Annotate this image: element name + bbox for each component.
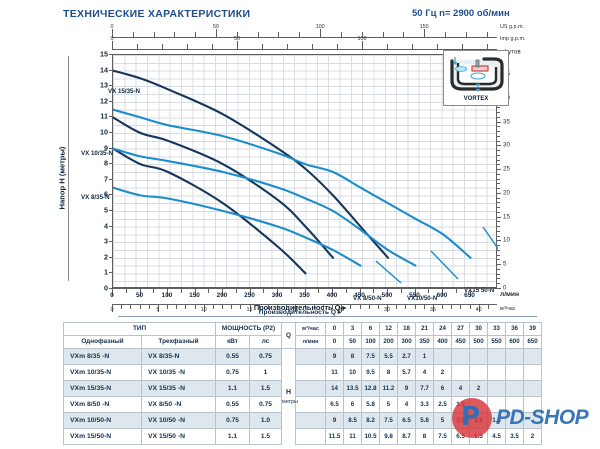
axis-tick-label: 100 xyxy=(358,36,367,42)
axis-tick-label: 0 xyxy=(110,292,114,299)
axis-tick xyxy=(412,44,413,49)
curves-svg xyxy=(113,55,498,289)
cell-type-three: VX 8/35-N xyxy=(142,349,216,365)
y-axis-right-minor-tick xyxy=(497,112,500,113)
cell-head-value: 4 xyxy=(398,397,416,413)
y-axis-tick-label: 14 xyxy=(92,65,108,74)
top-axis-imp-gpm: 050100 xyxy=(112,40,497,50)
table-top-rule xyxy=(118,316,537,317)
y-axis-right-minor-tick xyxy=(497,221,500,222)
cell-head-value xyxy=(506,397,524,413)
header-q-lmin: л/мин xyxy=(296,336,326,349)
cell-type-single: VXm 15/35-N xyxy=(64,381,142,397)
curve-leader-line xyxy=(376,261,401,283)
header-q-lmin-value: 100 xyxy=(362,336,380,349)
y-axis-right-minor-tick xyxy=(497,207,500,208)
axis-tick xyxy=(320,29,321,37)
cell-head-value: 8 xyxy=(380,365,398,381)
axis-tick xyxy=(424,305,425,309)
axis-tick xyxy=(181,289,182,293)
y-axis-right-tick xyxy=(497,217,501,218)
y-axis-right-minor-tick xyxy=(497,150,500,151)
cell-head-value: 9 xyxy=(326,413,344,429)
axis-tick xyxy=(445,32,446,37)
table-row: VXm 10/50-NVX 10/50 -N0.751.098.58.27.56… xyxy=(64,413,542,429)
axis-tick xyxy=(460,305,461,309)
header-power-hp: лс xyxy=(250,336,282,349)
header-q-lmin-value: 450 xyxy=(452,336,470,349)
header-q-m3h-value: 39 xyxy=(524,323,542,336)
y-axis-right-minor-tick xyxy=(497,136,500,137)
header-type-single: Однофазный xyxy=(64,336,142,349)
page-header: ТЕХНИЧЕСКИЕ ХАРАКТЕРИСТИКИ 50 Гц n= 2900… xyxy=(0,0,600,26)
header-q-m3h-value: 36 xyxy=(506,323,524,336)
y-axis-right-minor-tick xyxy=(497,131,500,132)
axis-tick xyxy=(185,305,186,309)
axis-tick xyxy=(337,44,338,49)
y-axis-right-minor-tick xyxy=(497,155,500,156)
header-q-m3h-value: 18 xyxy=(398,323,416,336)
axis-tick xyxy=(133,32,134,37)
axis-tick xyxy=(424,29,425,37)
table-flow-caption: Производительность Q ▸ xyxy=(259,308,341,316)
axis-tick xyxy=(487,44,488,49)
y-axis-tick-label: 13 xyxy=(92,81,108,90)
cell-head-value: 14 xyxy=(326,381,344,397)
axis-tick xyxy=(174,32,175,37)
y-axis-right-tick-label: 15 xyxy=(503,213,510,220)
cell-head-value xyxy=(506,413,524,429)
cell-power-kw: 0.55 xyxy=(216,397,250,413)
axis-tick xyxy=(187,44,188,49)
y-axis-left-title: Напор H (метры) xyxy=(58,147,67,210)
axis-tick xyxy=(318,289,319,293)
cell-spacer xyxy=(296,397,326,413)
curve-label: VX 15/35-N xyxy=(108,88,140,95)
curve-leader-line xyxy=(483,227,498,263)
cell-head-value: 13.5 xyxy=(344,381,362,397)
axis-tick xyxy=(396,305,397,309)
cell-power-hp: 0.75 xyxy=(250,397,282,413)
y-axis-tick-label: 5 xyxy=(92,206,108,215)
axis-tick xyxy=(258,32,259,37)
cell-spacer xyxy=(296,349,326,365)
cell-power-hp: 1.5 xyxy=(250,381,282,397)
cell-head-value: 9.5 xyxy=(362,365,380,381)
cell-head-value: 11 xyxy=(344,429,362,445)
axis-tick xyxy=(437,44,438,49)
cell-head-value: 4 xyxy=(452,381,470,397)
cell-h-unit: Hметры xyxy=(282,349,296,445)
y-axis-tick-label: 0 xyxy=(92,284,108,293)
frequency-label: 50 Гц n= 2900 об/мин xyxy=(412,8,510,19)
cell-head-value: 2 xyxy=(470,381,488,397)
cell-type-three: VX 15/50 -N xyxy=(142,429,216,445)
y-axis-right-minor-tick xyxy=(497,183,500,184)
axis-tick xyxy=(195,32,196,37)
header-q-m3h-value: 33 xyxy=(488,323,506,336)
cell-head-value: 8.2 xyxy=(362,413,380,429)
performance-chart: 050100150 US g.p.m. 050100 Imp g.p.m. На… xyxy=(0,26,600,320)
cell-type-single: VXm 10/50-N xyxy=(64,413,142,429)
cell-power-hp: 0.75 xyxy=(250,349,282,365)
axis-tick-label: 600 xyxy=(437,292,448,299)
table-header-row: ОднофазныйТрехфазныйкВтлсл/мин0501002003… xyxy=(64,336,542,349)
header-q-m3h: м³/час xyxy=(296,323,326,336)
axis-tick xyxy=(487,32,488,37)
y-axis-left-line xyxy=(68,56,69,281)
y-axis-right-minor-tick xyxy=(497,164,500,165)
y-axis-right-tick xyxy=(497,169,501,170)
curve-label: VX 8/35-N xyxy=(81,194,110,201)
curve-vx-8-35-n xyxy=(113,149,306,274)
y-axis-tick-label: 1 xyxy=(92,268,108,277)
y-axis-right-minor-tick xyxy=(497,126,500,127)
cell-type-three: VX 15/35 -N xyxy=(142,381,216,397)
axis-tick xyxy=(262,44,263,49)
vortex-pump-diagram-icon xyxy=(444,51,510,97)
y-axis-right-minor-tick xyxy=(497,269,500,270)
cell-head-value xyxy=(434,349,452,365)
axis-tick-label: 5 xyxy=(156,307,159,313)
cell-head-value xyxy=(524,365,542,381)
cell-type-single: VXm 10/35-N xyxy=(64,365,142,381)
axis-tick xyxy=(287,44,288,49)
cell-power-kw: 0.75 xyxy=(216,413,250,429)
cell-spacer xyxy=(296,365,326,381)
axis-tick xyxy=(208,289,209,293)
table-row: VXm 15/50-NVX 15/50 -N1.11.511.51110.59.… xyxy=(64,429,542,445)
y-axis-right-minor-tick xyxy=(497,188,500,189)
y-axis-right-tick xyxy=(497,145,501,146)
header-q-lmin-value: 350 xyxy=(416,336,434,349)
axis-tick xyxy=(362,41,363,49)
cell-power-kw: 0.75 xyxy=(216,365,250,381)
cell-type-three: VX 10/35 -N xyxy=(142,365,216,381)
axis-tick xyxy=(278,32,279,37)
header-q-lmin-value: 400 xyxy=(434,336,452,349)
axis-tick xyxy=(263,289,264,293)
axis-tick xyxy=(470,305,471,309)
axis-tick-label: 100 xyxy=(316,24,325,30)
y-axis-right-tick-label: 25 xyxy=(503,166,510,173)
axis-tick xyxy=(236,289,237,293)
cell-spacer xyxy=(296,381,326,397)
cell-head-value xyxy=(524,413,542,429)
cell-head-value: 6.5 xyxy=(452,429,470,445)
cell-spacer xyxy=(296,429,326,445)
axis-tick xyxy=(222,305,223,309)
page-title: ТЕХНИЧЕСКИЕ ХАРАКТЕРИСТИКИ xyxy=(63,8,250,20)
table-row: VXm 8/35 -NVX 8/35-N0.550.75Hметры987.55… xyxy=(64,349,542,365)
y-axis-right-tick-label: 35 xyxy=(503,118,510,125)
cell-head-value: 12.8 xyxy=(362,381,380,397)
cell-head-value: 4.5 xyxy=(488,429,506,445)
cell-head-value: 2.7 xyxy=(398,349,416,365)
cell-head-value: 5.7 xyxy=(398,365,416,381)
cell-head-value: 2.5 xyxy=(470,413,488,429)
y-axis-right-minor-tick xyxy=(497,226,500,227)
header-q-m3h-value: 24 xyxy=(434,323,452,336)
curve-vx10-50-n xyxy=(113,149,416,266)
cell-head-value: 10 xyxy=(344,365,362,381)
header-q-m3h-value: 6 xyxy=(362,323,380,336)
y-axis-right-tick xyxy=(497,122,501,123)
curve-vx-8-50-n xyxy=(113,188,361,266)
table-row: VXm 8/50 -NVX 8/50 -N0.550.756.565.8543.… xyxy=(64,397,542,413)
axis-tick-label: 0 xyxy=(111,307,114,313)
cell-head-value: 1.5 xyxy=(452,397,470,413)
y-axis-right-minor-tick xyxy=(497,274,500,275)
axis-tick xyxy=(154,32,155,37)
y-axis-tick-label: 4 xyxy=(92,221,108,230)
axis-tick xyxy=(312,44,313,49)
axis-tick xyxy=(350,305,351,309)
cell-type-three: VX 10/50 -N xyxy=(142,413,216,429)
y-axis-right-minor-tick xyxy=(497,236,500,237)
curve-vx15-50-n xyxy=(113,110,471,258)
y-axis-right-minor-tick xyxy=(497,202,500,203)
cell-type-single: VXm 15/50-N xyxy=(64,429,142,445)
y-axis-right-minor-tick xyxy=(497,107,500,108)
table-row: VXm 10/35-NVX 10/35 -N0.75111109.585.742 xyxy=(64,365,542,381)
cell-head-value: 8.7 xyxy=(398,429,416,445)
top-axis-us-unit: US g.p.m. xyxy=(500,24,524,30)
axis-tick-label: 500 xyxy=(382,292,393,299)
plot-area xyxy=(112,54,497,288)
x-axis-lmin: 050100150200250300350400450500550600650 xyxy=(112,288,497,300)
axis-tick xyxy=(360,305,361,309)
y-axis-right-tick xyxy=(497,288,501,289)
cell-head-value: 7.5 xyxy=(380,413,398,429)
y-axis-right-minor-tick xyxy=(497,141,500,142)
y-axis-right-tick-label: 30 xyxy=(503,142,510,149)
cell-head-value: 5 xyxy=(380,397,398,413)
cell-head-value: 3.8 xyxy=(452,413,470,429)
axis-tick xyxy=(383,32,384,37)
cell-head-value xyxy=(470,365,488,381)
cell-head-value: 8 xyxy=(344,349,362,365)
y-axis-right-minor-tick xyxy=(497,198,500,199)
cell-head-value: 7.7 xyxy=(416,381,434,397)
cell-head-value: 6.5 xyxy=(398,413,416,429)
y-axis-right-minor-tick xyxy=(497,255,500,256)
axis-tick xyxy=(378,305,379,309)
cell-head-value xyxy=(524,397,542,413)
axis-tick xyxy=(415,305,416,309)
y-axis-tick-label: 2 xyxy=(92,252,108,261)
specifications-table: ТИПМОЩНОСТЬ (P2)Qм³/час03612182124273033… xyxy=(63,322,537,445)
spec-table: ТИПМОЩНОСТЬ (P2)Qм³/час03612182124273033… xyxy=(63,322,542,445)
y-axis-right-tick-label: 10 xyxy=(503,237,510,244)
x-axis-lmin-unit: л/мин xyxy=(500,291,519,298)
axis-tick-label: 0 xyxy=(111,36,114,42)
axis-tick-label: 30 xyxy=(384,307,390,313)
axis-tick-label: 400 xyxy=(327,292,338,299)
cell-head-value: 2 xyxy=(434,365,452,381)
cell-head-value: 9 xyxy=(398,381,416,397)
cell-power-hp: 1.0 xyxy=(250,413,282,429)
vortex-badge: VORTEX xyxy=(443,50,509,106)
y-axis-right-minor-tick xyxy=(497,278,500,279)
axis-tick xyxy=(456,289,457,293)
axis-tick-label: 150 xyxy=(189,292,200,299)
cell-head-value: 6 xyxy=(434,381,452,397)
cell-head-value: 10.5 xyxy=(362,429,380,445)
axis-tick xyxy=(240,305,241,309)
axis-tick xyxy=(299,32,300,37)
header-q-lmin-value: 200 xyxy=(380,336,398,349)
cell-head-value xyxy=(506,365,524,381)
cell-head-value: 5.8 xyxy=(362,397,380,413)
y-axis-tick-label: 11 xyxy=(92,112,108,121)
cell-head-value xyxy=(470,397,488,413)
header-q-m3h-value: 27 xyxy=(452,323,470,336)
curve-vx-10-35-n xyxy=(113,117,333,257)
axis-tick xyxy=(346,289,347,293)
cell-type-three: VX 8/50 -N xyxy=(142,397,216,413)
header-q-lmin-value: 300 xyxy=(398,336,416,349)
cell-head-value: 3.5 xyxy=(506,429,524,445)
h-unit: метры xyxy=(282,398,295,406)
axis-tick xyxy=(237,41,238,49)
cell-power-kw: 0.55 xyxy=(216,349,250,365)
axis-tick xyxy=(195,305,196,309)
cell-head-value: 8 xyxy=(416,429,434,445)
cell-type-single: VXm 8/35 -N xyxy=(64,349,142,365)
axis-tick xyxy=(403,32,404,37)
axis-line xyxy=(112,49,497,50)
axis-tick xyxy=(130,305,131,309)
cell-head-value xyxy=(488,349,506,365)
cell-head-value: 11 xyxy=(326,365,344,381)
y-axis-right-minor-tick xyxy=(497,174,500,175)
axis-tick xyxy=(369,305,370,309)
header-q-lmin-value: 550 xyxy=(488,336,506,349)
y-axis-right-minor-tick xyxy=(497,160,500,161)
axis-tick xyxy=(162,44,163,49)
header-type: ТИП xyxy=(64,323,216,336)
axis-tick xyxy=(213,305,214,309)
cell-head-value: 8.5 xyxy=(344,413,362,429)
curve-vx-15-35-n xyxy=(113,71,388,258)
axis-tick xyxy=(405,305,406,309)
axis-tick-label: 0 xyxy=(111,24,114,30)
header-q-lmin-value: 50 xyxy=(344,336,362,349)
top-axis-imp-unit: Imp g.p.m. xyxy=(500,36,525,42)
cell-head-value: 9.8 xyxy=(380,429,398,445)
header-q-lmin-value: 650 xyxy=(524,336,542,349)
axis-tick xyxy=(387,44,388,49)
cell-head-value xyxy=(452,349,470,365)
y-axis-tick-label: 3 xyxy=(92,237,108,246)
vortex-label: VORTEX xyxy=(444,96,508,102)
axis-tick-label: 450 xyxy=(354,292,365,299)
cell-head-value: 3.3 xyxy=(416,397,434,413)
cell-power-kw: 1.1 xyxy=(216,429,250,445)
table-row: VXm 15/35-NVX 15/35 -N1.11.51413.512.811… xyxy=(64,381,542,397)
cell-head-value: 6.5 xyxy=(326,397,344,413)
header-q-m3h-value: 0 xyxy=(326,323,344,336)
y-axis-tick-label: 8 xyxy=(92,159,108,168)
axis-tick xyxy=(121,305,122,309)
axis-tick xyxy=(126,289,127,293)
header-q-m3h-value: 3 xyxy=(344,323,362,336)
axis-tick xyxy=(428,289,429,293)
cell-head-value: 2.5 xyxy=(434,397,452,413)
cell-head-value xyxy=(524,349,542,365)
header-q-lmin-value: 600 xyxy=(506,336,524,349)
axis-line xyxy=(112,37,497,38)
axis-tick xyxy=(231,305,232,309)
axis-tick-label: 15 xyxy=(247,307,253,313)
x-axis-m3h-unit: м³/час xyxy=(500,306,516,312)
header-q: Q xyxy=(282,323,296,349)
axis-tick xyxy=(442,305,443,309)
header-q-m3h-value: 30 xyxy=(470,323,488,336)
cell-power-hp: 1 xyxy=(250,365,282,381)
cell-head-value: 1.5 xyxy=(488,413,506,429)
cell-head-value xyxy=(524,381,542,397)
y-axis-right-minor-tick xyxy=(497,212,500,213)
y-axis-tick-label: 15 xyxy=(92,50,108,59)
cell-head-value: 5.5 xyxy=(380,349,398,365)
axis-tick xyxy=(451,305,452,309)
cell-head-value: 5 xyxy=(434,413,452,429)
y-axis-right-minor-tick xyxy=(497,259,500,260)
y-axis-right-minor-tick xyxy=(497,245,500,246)
axis-tick-label: 35 xyxy=(430,307,436,313)
cell-type-single: VXm 8/50 -N xyxy=(64,397,142,413)
cell-head-value xyxy=(488,381,506,397)
axis-tick-label: 50 xyxy=(136,292,143,299)
axis-tick-label: 550 xyxy=(409,292,420,299)
axis-tick xyxy=(216,29,217,37)
axis-tick xyxy=(176,305,177,309)
cell-head-value xyxy=(506,381,524,397)
cell-head-value: 11.5 xyxy=(326,429,344,445)
axis-tick-label: 250 xyxy=(244,292,255,299)
axis-tick xyxy=(341,32,342,37)
cell-head-value xyxy=(452,365,470,381)
axis-tick xyxy=(291,289,292,293)
axis-tick-label: 300 xyxy=(272,292,283,299)
cell-head-value: 1 xyxy=(416,349,434,365)
axis-tick xyxy=(167,305,168,309)
cell-head-value xyxy=(488,365,506,381)
cell-head-value xyxy=(470,349,488,365)
axis-tick-label: 350 xyxy=(299,292,310,299)
y-axis-right-minor-tick xyxy=(497,231,500,232)
h-symbol: H xyxy=(282,388,295,398)
cell-head-value: 5.8 xyxy=(416,413,434,429)
cell-head-value: 7.5 xyxy=(362,349,380,365)
curve-label: VX 10/35-N xyxy=(81,150,113,157)
cell-head-value: 6 xyxy=(344,397,362,413)
axis-tick xyxy=(462,44,463,49)
curve-leader-line xyxy=(431,251,458,279)
header-q-m3h-value: 12 xyxy=(380,323,398,336)
y-axis-tick-label: 12 xyxy=(92,96,108,105)
y-axis-right-tick xyxy=(497,264,501,265)
axis-tick-label: 650 xyxy=(464,292,475,299)
cell-head-value: 4 xyxy=(416,365,434,381)
cell-spacer xyxy=(296,413,326,429)
axis-tick-label: 50 xyxy=(234,36,240,42)
y-axis-right-minor-tick xyxy=(497,283,500,284)
y-axis-right-tick-label: 5 xyxy=(503,261,506,268)
y-axis-right-minor-tick xyxy=(497,250,500,251)
